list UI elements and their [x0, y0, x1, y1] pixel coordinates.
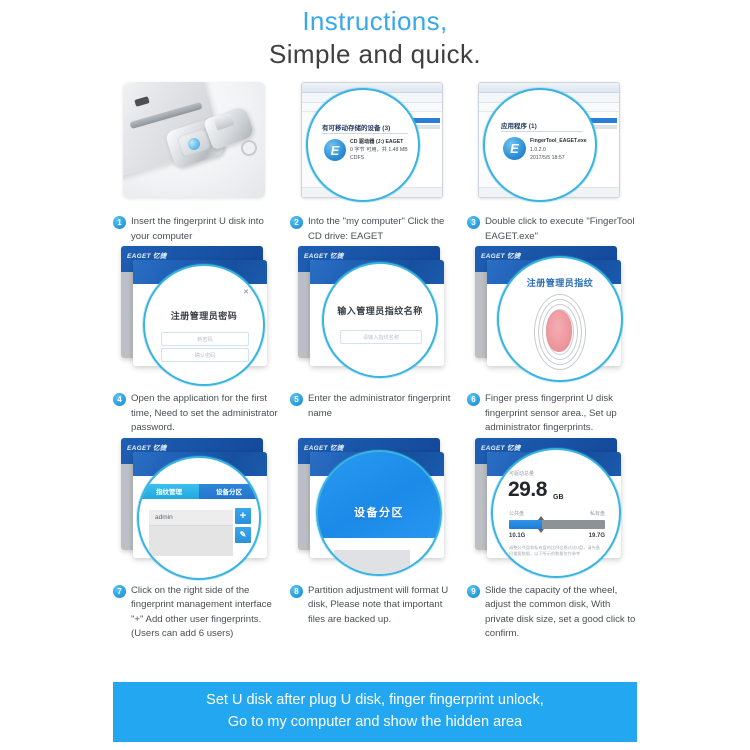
step-number-badge-9: 9	[467, 585, 480, 598]
fingerprint-list-empty-area	[149, 526, 233, 556]
step-number-badge-7: 7	[113, 585, 126, 598]
step-caption-text-1: Insert the fingerprint U disk into your …	[131, 215, 282, 244]
step-7-figure: EAGET 忆捷 指纹管理 设备分区 admin	[113, 436, 282, 582]
new-password-field[interactable]: 新密码	[161, 332, 249, 346]
step-caption-text-5: Enter the administrator fingerprint name	[308, 392, 459, 421]
step-8-figure: EAGET 忆捷 设备分区	[290, 436, 459, 582]
magnifier-bubble-2: 有可移动存储的设备 (3) E CD 驱动器 (J:) EAGET 0 字节 可…	[306, 88, 420, 202]
steps-row-1: 1 Insert the fingerprint U disk into you…	[113, 78, 637, 244]
usb-fingerprint-disk-photo	[123, 82, 265, 198]
eaget-brand-label-4: EAGET 忆捷	[127, 250, 167, 260]
eaget-brand-label-9: EAGET 忆捷	[481, 442, 521, 452]
step-7-caption: 7 Click on the right side of the fingerp…	[113, 582, 282, 642]
step-cell-4: EAGET 忆捷 ✕ 注册管理员密码 新密码 确认密码	[113, 244, 282, 436]
magnifier-bubble-8: 设备分区	[316, 450, 442, 576]
step-6-figure: EAGET 忆捷 注册管理员指纹	[467, 244, 636, 390]
step-cell-2: 有可移动存储的设备 (3) E CD 驱动器 (J:) EAGET 0 字节 可…	[290, 78, 459, 244]
step-5-caption: 5 Enter the administrator fingerprint na…	[290, 390, 459, 421]
step-number-badge-3: 3	[467, 216, 480, 229]
step-caption-text-3: Double click to execute "FingerTool EAGE…	[485, 215, 636, 244]
eaget-brand-label-6: EAGET 忆捷	[481, 250, 521, 260]
banner-line-1: Set U disk after plug U disk, finger fin…	[113, 689, 637, 711]
step-9-caption: 9 Slide the capacity of the wheel, adjus…	[467, 582, 636, 642]
eaget-brand-label-5: EAGET 忆捷	[304, 250, 344, 260]
magnifier-bubble-5: 输入管理员指纹名称 请输入指纹名称	[322, 262, 438, 378]
title-line-2: Simple and quick.	[0, 38, 750, 70]
step-number-badge-1: 1	[113, 216, 126, 229]
eaget-e-icon-3: E	[503, 137, 526, 160]
confirm-password-field[interactable]: 确认密码	[161, 348, 249, 362]
step-caption-text-8: Partition adjustment will format U disk,…	[308, 584, 459, 628]
step-caption-text-4: Open the application for the first time,…	[131, 392, 282, 436]
eaget-brand-label-8: EAGET 忆捷	[304, 442, 344, 452]
bubble-item-line3-2: CDFS	[350, 155, 364, 162]
step-number-badge-4: 4	[113, 393, 126, 406]
magnifier-bubble-3: 应用程序 (1) E FingerTool_EAGET.exe 1.0.2.0 …	[483, 88, 597, 202]
close-icon[interactable]: ✕	[243, 288, 249, 296]
capacity-value: 29.8	[508, 478, 547, 502]
magnifier-bubble-4: ✕ 注册管理员密码 新密码 确认密码	[143, 264, 265, 386]
step-2-caption: 2 Into the "my computer" Click the CD dr…	[290, 213, 459, 244]
title-line-1: Instructions,	[0, 6, 750, 36]
capacity-slider-handle-top[interactable]	[538, 516, 544, 520]
capacity-slider-handle-bottom[interactable]	[538, 529, 544, 533]
dialog-title-5: 输入管理员指纹名称	[324, 304, 436, 317]
step-cell-5: EAGET 忆捷 输入管理员指纹名称 请输入指纹名称 5	[290, 244, 459, 436]
step-caption-text-2: Into the "my computer" Click the CD driv…	[308, 215, 459, 244]
app-tab-bar: 指纹管理 设备分区	[139, 484, 259, 499]
fingerprint-name-field[interactable]: 请输入指纹名称	[340, 330, 422, 344]
step-cell-8: EAGET 忆捷 设备分区 8	[290, 436, 459, 642]
tab-fingerprint-management[interactable]: 指纹管理	[139, 484, 199, 499]
eaget-brand-label-7: EAGET 忆捷	[127, 442, 167, 452]
tab-device-partition[interactable]: 设备分区	[199, 484, 259, 499]
add-fingerprint-button[interactable]: +	[235, 508, 251, 524]
magnifier-bubble-9: 可驱动总量 29.8 GB 公共盘 私有盘 10.1G 19.7G 调整公共盘和…	[491, 448, 621, 578]
eaget-e-icon-2: E	[324, 139, 346, 161]
step-caption-text-7: Click on the right side of the fingerpri…	[131, 584, 282, 642]
edit-fingerprint-button[interactable]: ✎	[235, 527, 251, 543]
step-cell-3: 应用程序 (1) E FingerTool_EAGET.exe 1.0.2.0 …	[467, 78, 636, 244]
bubble-divider	[322, 133, 408, 134]
step-caption-text-6: Finger press fingerprint U disk fingerpr…	[485, 392, 636, 436]
step-9-figure: EAGET 忆捷 可驱动总量 29.8 GB 公共	[467, 436, 636, 582]
step-number-badge-2: 2	[290, 216, 303, 229]
step-6-caption: 6 Finger press fingerprint U disk finger…	[467, 390, 636, 436]
fingerprint-list-row-admin[interactable]: admin	[149, 510, 233, 526]
bubble-heading-2: 有可移动存储的设备 (3)	[322, 122, 390, 132]
bubble-heading-3: 应用程序 (1)	[501, 120, 537, 130]
bubble-divider	[501, 131, 583, 132]
step-4-figure: EAGET 忆捷 ✕ 注册管理员密码 新密码 确认密码	[113, 244, 282, 390]
step-3-figure: 应用程序 (1) E FingerTool_EAGET.exe 1.0.2.0 …	[467, 78, 636, 213]
partition-panel-inner	[334, 550, 410, 574]
steps-row-3: EAGET 忆捷 指纹管理 设备分区 admin	[113, 436, 637, 642]
step-3-caption: 3 Double click to execute "FingerTool EA…	[467, 213, 636, 244]
capacity-note: 调整公共盘和私有盘的比例会格式化U盘，请先备份重要数据，以下所示的数量仅作参考	[509, 545, 601, 557]
dialog-title-6: 注册管理员指纹	[499, 276, 621, 289]
step-2-figure: 有可移动存储的设备 (3) E CD 驱动器 (J:) EAGET 0 字节 可…	[290, 78, 459, 213]
bubble-item-title-2: CD 驱动器 (J:) EAGET	[350, 139, 403, 146]
step-cell-6: EAGET 忆捷 注册管理员指纹	[467, 244, 636, 436]
step-5-figure: EAGET 忆捷 输入管理员指纹名称 请输入指纹名称	[290, 244, 459, 390]
private-disk-label: 私有盘	[590, 510, 605, 517]
bubble-item-title-3: FingerTool_EAGET.exe	[530, 138, 587, 145]
keyring-icon	[239, 138, 260, 159]
step-number-badge-5: 5	[290, 393, 303, 406]
page-title: Instructions, Simple and quick.	[0, 0, 750, 70]
step-1-figure	[113, 78, 282, 213]
bubble-item-line2-3: 1.0.2.0	[530, 147, 546, 154]
step-cell-7: EAGET 忆捷 指纹管理 设备分区 admin	[113, 436, 282, 642]
bubble-item-line2-2: 0 字节 可用，共 1.48 MB	[350, 147, 408, 154]
magnifier-bubble-6: 注册管理员指纹	[497, 256, 623, 382]
device-partition-title: 设备分区	[318, 504, 440, 520]
banner-line-2: Go to my computer and show the hidden ar…	[113, 711, 637, 733]
public-disk-label: 公共盘	[509, 510, 524, 517]
step-8-caption: 8 Partition adjustment will format U dis…	[290, 582, 459, 628]
step-4-caption: 4 Open the application for the first tim…	[113, 390, 282, 436]
capacity-unit: GB	[553, 494, 564, 501]
fingerprint-graphic	[534, 294, 586, 370]
steps-row-2: EAGET 忆捷 ✕ 注册管理员密码 新密码 确认密码	[113, 244, 637, 436]
step-1-caption: 1 Insert the fingerprint U disk into you…	[113, 213, 282, 244]
capacity-slider-track[interactable]	[509, 520, 605, 529]
step-cell-1: 1 Insert the fingerprint U disk into you…	[113, 78, 282, 244]
step-number-badge-6: 6	[467, 393, 480, 406]
capacity-card: 可驱动总量 29.8 GB 公共盘 私有盘 10.1G 19.7G 调整公共盘和…	[505, 466, 609, 562]
private-disk-value: 19.7G	[589, 533, 605, 539]
steps-grid: 1 Insert the fingerprint U disk into you…	[113, 78, 637, 642]
capacity-label: 可驱动总量	[509, 470, 534, 477]
step-cell-9: EAGET 忆捷 可驱动总量 29.8 GB 公共	[467, 436, 636, 642]
bubble-item-line3-3: 2017/5/5 18:57	[530, 155, 565, 162]
capacity-slider-fill	[509, 520, 542, 529]
bottom-banner: Set U disk after plug U disk, finger fin…	[113, 682, 637, 742]
fingerprint-core-highlight	[546, 310, 572, 352]
public-disk-value: 10.1G	[509, 533, 525, 539]
step-number-badge-8: 8	[290, 585, 303, 598]
step-caption-text-9: Slide the capacity of the wheel, adjust …	[485, 584, 636, 642]
dialog-title-4: 注册管理员密码	[145, 309, 263, 322]
magnifier-bubble-7: 指纹管理 设备分区 admin + ✎	[137, 456, 261, 580]
